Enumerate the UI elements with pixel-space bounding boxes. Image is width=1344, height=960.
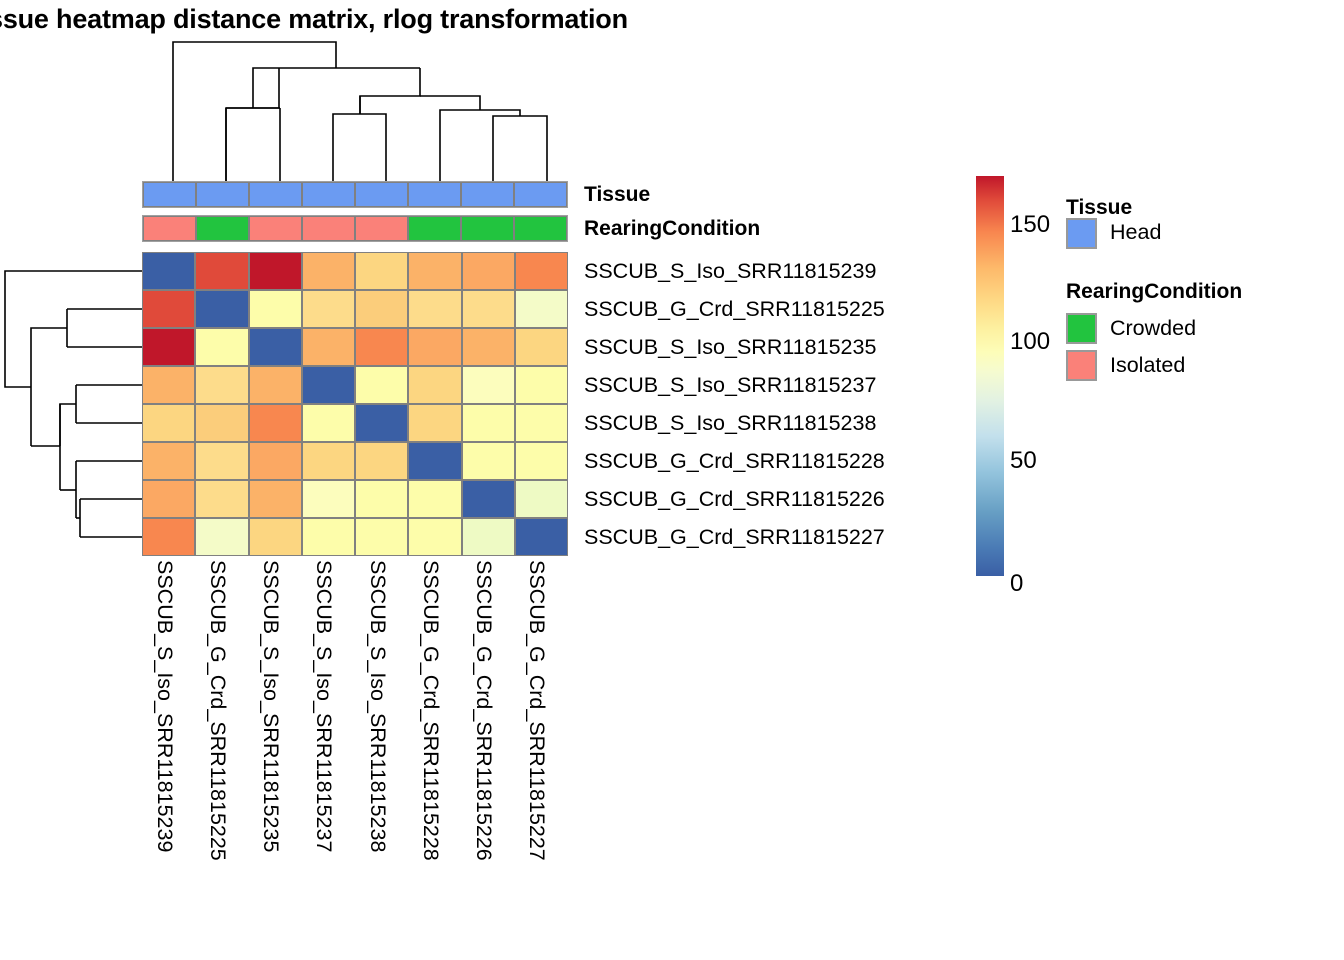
- heatmap-cell: [515, 290, 568, 328]
- legend-swatch-rearing-crowded: [1066, 313, 1097, 344]
- heatmap-cell: [249, 252, 302, 290]
- heatmap-cell: [355, 290, 408, 328]
- heatmap-cell: [515, 252, 568, 290]
- annotation-cell: [196, 216, 249, 241]
- heatmap-cell: [462, 442, 515, 480]
- annotation-track-rearing-condition: [142, 215, 568, 242]
- annotation-track-tissue: [142, 181, 568, 208]
- heatmap-cell: [462, 518, 515, 556]
- heatmap-grid: [142, 252, 568, 556]
- annotation-cell: [408, 216, 461, 241]
- heatmap-cell: [355, 366, 408, 404]
- annotation-cell: [461, 216, 514, 241]
- heatmap-cell: [515, 480, 568, 518]
- heatmap-cell: [408, 404, 461, 442]
- heatmap-cell: [195, 518, 248, 556]
- row-label: SSCUB_S_Iso_SRR11815238: [584, 404, 876, 442]
- heatmap-cell: [462, 290, 515, 328]
- heatmap-cell: [302, 404, 355, 442]
- annotation-cell: [408, 182, 461, 207]
- colorbar-tick-150: 150: [1010, 211, 1050, 239]
- heatmap-cell: [249, 328, 302, 366]
- heatmap-cell: [355, 252, 408, 290]
- heatmap-cell: [462, 404, 515, 442]
- legend-title-rearing-condition: RearingCondition: [1066, 280, 1242, 304]
- heatmap-cell: [195, 252, 248, 290]
- heatmap-cell: [302, 252, 355, 290]
- column-label: SSCUB_G_Crd_SRR11815228: [418, 560, 443, 861]
- annotation-cell: [249, 182, 302, 207]
- heatmap-cell: [302, 290, 355, 328]
- column-label: SSCUB_G_Crd_SRR11815226: [471, 560, 496, 861]
- heatmap-cell: [302, 366, 355, 404]
- heatmap-cell: [355, 328, 408, 366]
- legend-swatch-tissue-head: [1066, 218, 1097, 249]
- heatmap-cell: [142, 252, 195, 290]
- column-label: SSCUB_S_Iso_SRR11815238: [365, 560, 390, 852]
- heatmap-cell: [302, 328, 355, 366]
- heatmap-cell: [142, 290, 195, 328]
- heatmap-cell: [195, 442, 248, 480]
- heatmap-cell: [302, 518, 355, 556]
- colorbar-tick-50: 50: [1010, 447, 1037, 475]
- heatmap-cell: [408, 290, 461, 328]
- heatmap-cell: [142, 442, 195, 480]
- column-label: SSCUB_G_Crd_SRR11815225: [205, 560, 230, 861]
- heatmap-cell: [142, 480, 195, 518]
- annotation-cell: [355, 182, 408, 207]
- annotation-cell: [514, 216, 567, 241]
- heatmap-figure: ssue heatmap distance matrix, rlog trans…: [0, 0, 1344, 960]
- legend-label-tissue-head: Head: [1110, 220, 1161, 245]
- heatmap-cell: [462, 366, 515, 404]
- legend-label-rearing-isolated: Isolated: [1110, 353, 1185, 378]
- heatmap-cell: [515, 442, 568, 480]
- row-label-group: SSCUB_S_Iso_SRR11815239SSCUB_G_Crd_SRR11…: [584, 252, 984, 556]
- annotation-cell: [355, 216, 408, 241]
- heatmap-cell: [408, 328, 461, 366]
- column-label: SSCUB_S_Iso_SRR11815235: [258, 560, 283, 852]
- row-label: SSCUB_S_Iso_SRR11815235: [584, 328, 876, 366]
- heatmap-cell: [355, 480, 408, 518]
- row-label: SSCUB_S_Iso_SRR11815239: [584, 252, 876, 290]
- annotation-cell: [143, 182, 196, 207]
- heatmap-cell: [515, 328, 568, 366]
- heatmap-cell: [142, 518, 195, 556]
- column-label-group: SSCUB_S_Iso_SRR11815239SSCUB_G_Crd_SRR11…: [142, 560, 568, 960]
- row-label: SSCUB_G_Crd_SRR11815225: [584, 290, 885, 328]
- annotation-cell: [143, 216, 196, 241]
- heatmap-cell: [302, 480, 355, 518]
- heatmap-cell: [408, 480, 461, 518]
- annotation-cell: [302, 216, 355, 241]
- heatmap-cell: [195, 290, 248, 328]
- heatmap-cell: [195, 366, 248, 404]
- column-label: SSCUB_G_Crd_SRR11815227: [524, 560, 549, 861]
- heatmap-cell: [515, 404, 568, 442]
- heatmap-cell: [142, 366, 195, 404]
- heatmap-cell: [142, 404, 195, 442]
- heatmap-cell: [408, 252, 461, 290]
- heatmap-cell: [249, 404, 302, 442]
- heatmap-cell: [355, 404, 408, 442]
- heatmap-cell: [462, 252, 515, 290]
- heatmap-cell: [462, 480, 515, 518]
- colorbar-gradient: [976, 176, 1004, 576]
- colorbar-tick-0: 0: [1010, 570, 1023, 598]
- heatmap-cell: [462, 328, 515, 366]
- row-dendrogram: [0, 250, 142, 560]
- annotation-label-rearing-condition: RearingCondition: [584, 217, 760, 241]
- heatmap-cell: [355, 518, 408, 556]
- row-label: SSCUB_G_Crd_SRR11815226: [584, 480, 885, 518]
- annotation-cell: [196, 182, 249, 207]
- column-dendrogram: [140, 38, 580, 183]
- row-label: SSCUB_S_Iso_SRR11815237: [584, 366, 876, 404]
- heatmap-cell: [302, 442, 355, 480]
- annotation-cell: [461, 182, 514, 207]
- heatmap-cell: [249, 518, 302, 556]
- heatmap-cell: [355, 442, 408, 480]
- heatmap-cell: [408, 442, 461, 480]
- heatmap-cell: [195, 328, 248, 366]
- colorbar-tick-100: 100: [1010, 328, 1050, 356]
- heatmap-cell: [249, 366, 302, 404]
- heatmap-cell: [408, 518, 461, 556]
- legend-label-rearing-crowded: Crowded: [1110, 316, 1196, 341]
- row-label: SSCUB_G_Crd_SRR11815227: [584, 518, 885, 556]
- annotation-cell: [514, 182, 567, 207]
- column-label: SSCUB_S_Iso_SRR11815239: [152, 560, 177, 852]
- heatmap-cell: [142, 328, 195, 366]
- heatmap-cell: [515, 366, 568, 404]
- legend-swatch-rearing-isolated: [1066, 350, 1097, 381]
- column-label: SSCUB_S_Iso_SRR11815237: [311, 560, 336, 852]
- annotation-label-tissue: Tissue: [584, 183, 650, 207]
- heatmap-cell: [408, 366, 461, 404]
- page-title: ssue heatmap distance matrix, rlog trans…: [0, 4, 628, 35]
- legend-title-tissue: Tissue: [1066, 196, 1132, 220]
- annotation-cell: [249, 216, 302, 241]
- annotation-cell: [302, 182, 355, 207]
- heatmap-cell: [249, 480, 302, 518]
- heatmap-cell: [515, 518, 568, 556]
- heatmap-cell: [195, 480, 248, 518]
- row-label: SSCUB_G_Crd_SRR11815228: [584, 442, 885, 480]
- heatmap-cell: [249, 442, 302, 480]
- heatmap-cell: [249, 290, 302, 328]
- heatmap-cell: [195, 404, 248, 442]
